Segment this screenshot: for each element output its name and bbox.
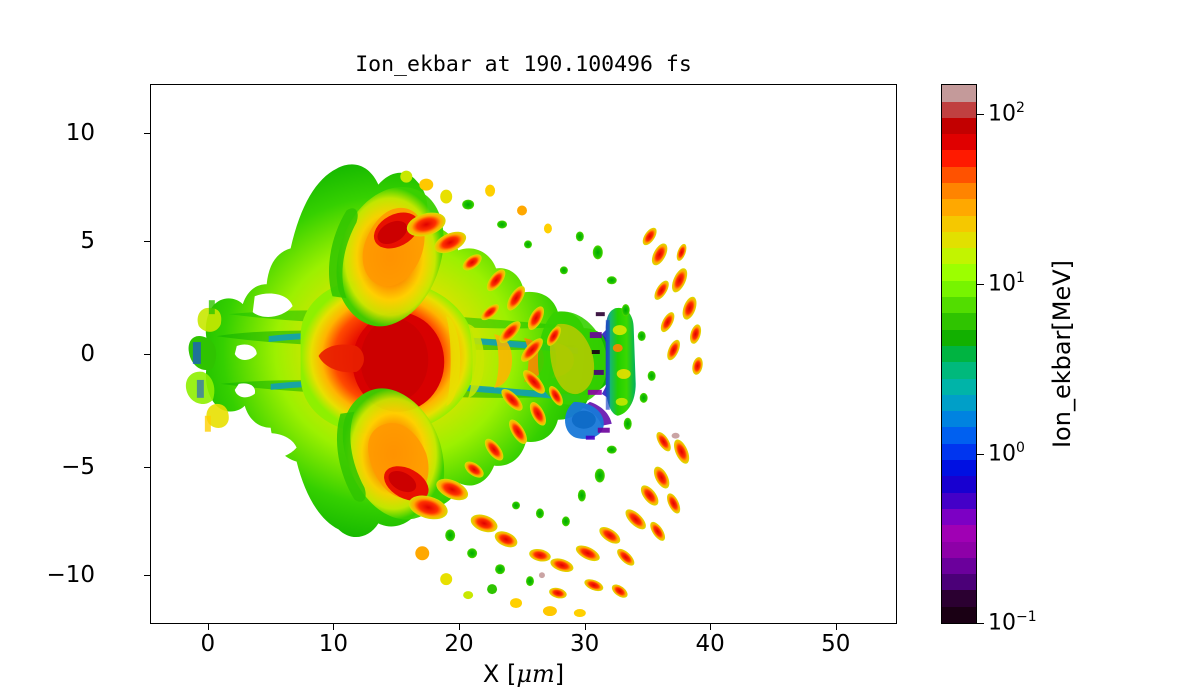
colorbar-label: Ion_ekbar[MeV] [1048, 84, 1076, 624]
xtick-label-0: 0 [200, 631, 215, 657]
colorbar[interactable] [941, 84, 977, 624]
colorbar-exponent: 0 [1016, 440, 1025, 456]
colorbar-tick-label-1e0: 100 [988, 442, 1025, 467]
colorbar-mantissa: 10 [988, 102, 1016, 127]
colorbar-band-32 [942, 85, 976, 101]
xtick-5 [836, 624, 837, 630]
ytick-label-4: −10 [46, 562, 95, 588]
xtick-label-5: 50 [821, 631, 850, 657]
xtick-2 [459, 624, 460, 630]
colorbar-band-11 [942, 427, 976, 443]
colorbar-band-22 [942, 248, 976, 264]
ytick-label-1: 5 [80, 228, 95, 254]
colorbar-band-10 [942, 444, 976, 460]
colorbar-band-14 [942, 379, 976, 395]
ytick-label-3: −5 [61, 454, 95, 480]
colorbar-tick-label-1e2: 102 [988, 102, 1025, 127]
colorbar-band-5 [942, 525, 976, 541]
colorbar-band-20 [942, 281, 976, 297]
colorbar-band-0 [942, 607, 976, 623]
colorbar-tick-1em1 [977, 623, 984, 624]
colorbar-band-31 [942, 102, 976, 118]
plot-axes[interactable] [150, 84, 897, 624]
xtick-label-1: 10 [319, 631, 348, 657]
colorbar-band-3 [942, 558, 976, 574]
colorbar-band-23 [942, 232, 976, 248]
x-axis-label-prefix: X [ [483, 660, 516, 688]
x-axis-label-unit: μm [516, 660, 554, 688]
colorbar-gradient [942, 85, 976, 623]
x-axis-label-suffix: ] [555, 660, 564, 688]
colorbar-band-30 [942, 118, 976, 134]
colorbar-exponent: −1 [1016, 609, 1037, 625]
heatmap-data-layer [151, 85, 896, 623]
colorbar-band-2 [942, 574, 976, 590]
colorbar-exponent: 2 [1016, 100, 1025, 116]
colorbar-tick-1e0 [977, 454, 984, 455]
x-axis-label: X [μm] [150, 660, 897, 688]
colorbar-tick-1e2 [977, 114, 984, 115]
ytick-label-2: 0 [80, 341, 95, 367]
colorbar-band-18 [942, 313, 976, 329]
colorbar-band-9 [942, 460, 976, 476]
colorbar-band-4 [942, 542, 976, 558]
xtick-4 [710, 624, 711, 630]
figure-canvas: Ion_ekbar at 190.100496 fs [0, 0, 1200, 700]
xtick-label-4: 40 [696, 631, 725, 657]
colorbar-band-15 [942, 362, 976, 378]
colorbar-band-29 [942, 134, 976, 150]
colorbar-exponent: 1 [1016, 270, 1025, 286]
page-title: Ion_ekbar at 190.100496 fs [150, 52, 897, 77]
colorbar-band-26 [942, 183, 976, 199]
colorbar-band-13 [942, 395, 976, 411]
ytick-3 [144, 467, 150, 468]
colorbar-band-27 [942, 167, 976, 183]
colorbar-band-7 [942, 493, 976, 509]
colorbar-band-25 [942, 199, 976, 215]
ytick-2 [144, 354, 150, 355]
colorbar-tick-1e1 [977, 284, 984, 285]
colorbar-band-21 [942, 264, 976, 280]
xtick-0 [208, 624, 209, 630]
colorbar-mantissa: 10 [988, 442, 1016, 467]
colorbar-band-19 [942, 297, 976, 313]
colorbar-band-8 [942, 476, 976, 492]
colorbar-band-17 [942, 330, 976, 346]
ytick-1 [144, 241, 150, 242]
xtick-label-2: 20 [444, 631, 473, 657]
xtick-label-3: 30 [570, 631, 599, 657]
colorbar-band-16 [942, 346, 976, 362]
colorbar-mantissa: 10 [988, 272, 1016, 297]
colorbar-band-12 [942, 411, 976, 427]
xtick-3 [585, 624, 586, 630]
colorbar-tick-label-1e1: 101 [988, 272, 1025, 297]
ytick-0 [144, 133, 150, 134]
ytick-4 [144, 575, 150, 576]
colorbar-band-24 [942, 216, 976, 232]
colorbar-tick-label-1em1: 10−1 [988, 611, 1037, 636]
colorbar-band-28 [942, 150, 976, 166]
ytick-label-0: 10 [66, 120, 95, 146]
colorbar-band-6 [942, 509, 976, 525]
colorbar-mantissa: 10 [988, 611, 1016, 636]
colorbar-band-1 [942, 590, 976, 606]
xtick-1 [333, 624, 334, 630]
